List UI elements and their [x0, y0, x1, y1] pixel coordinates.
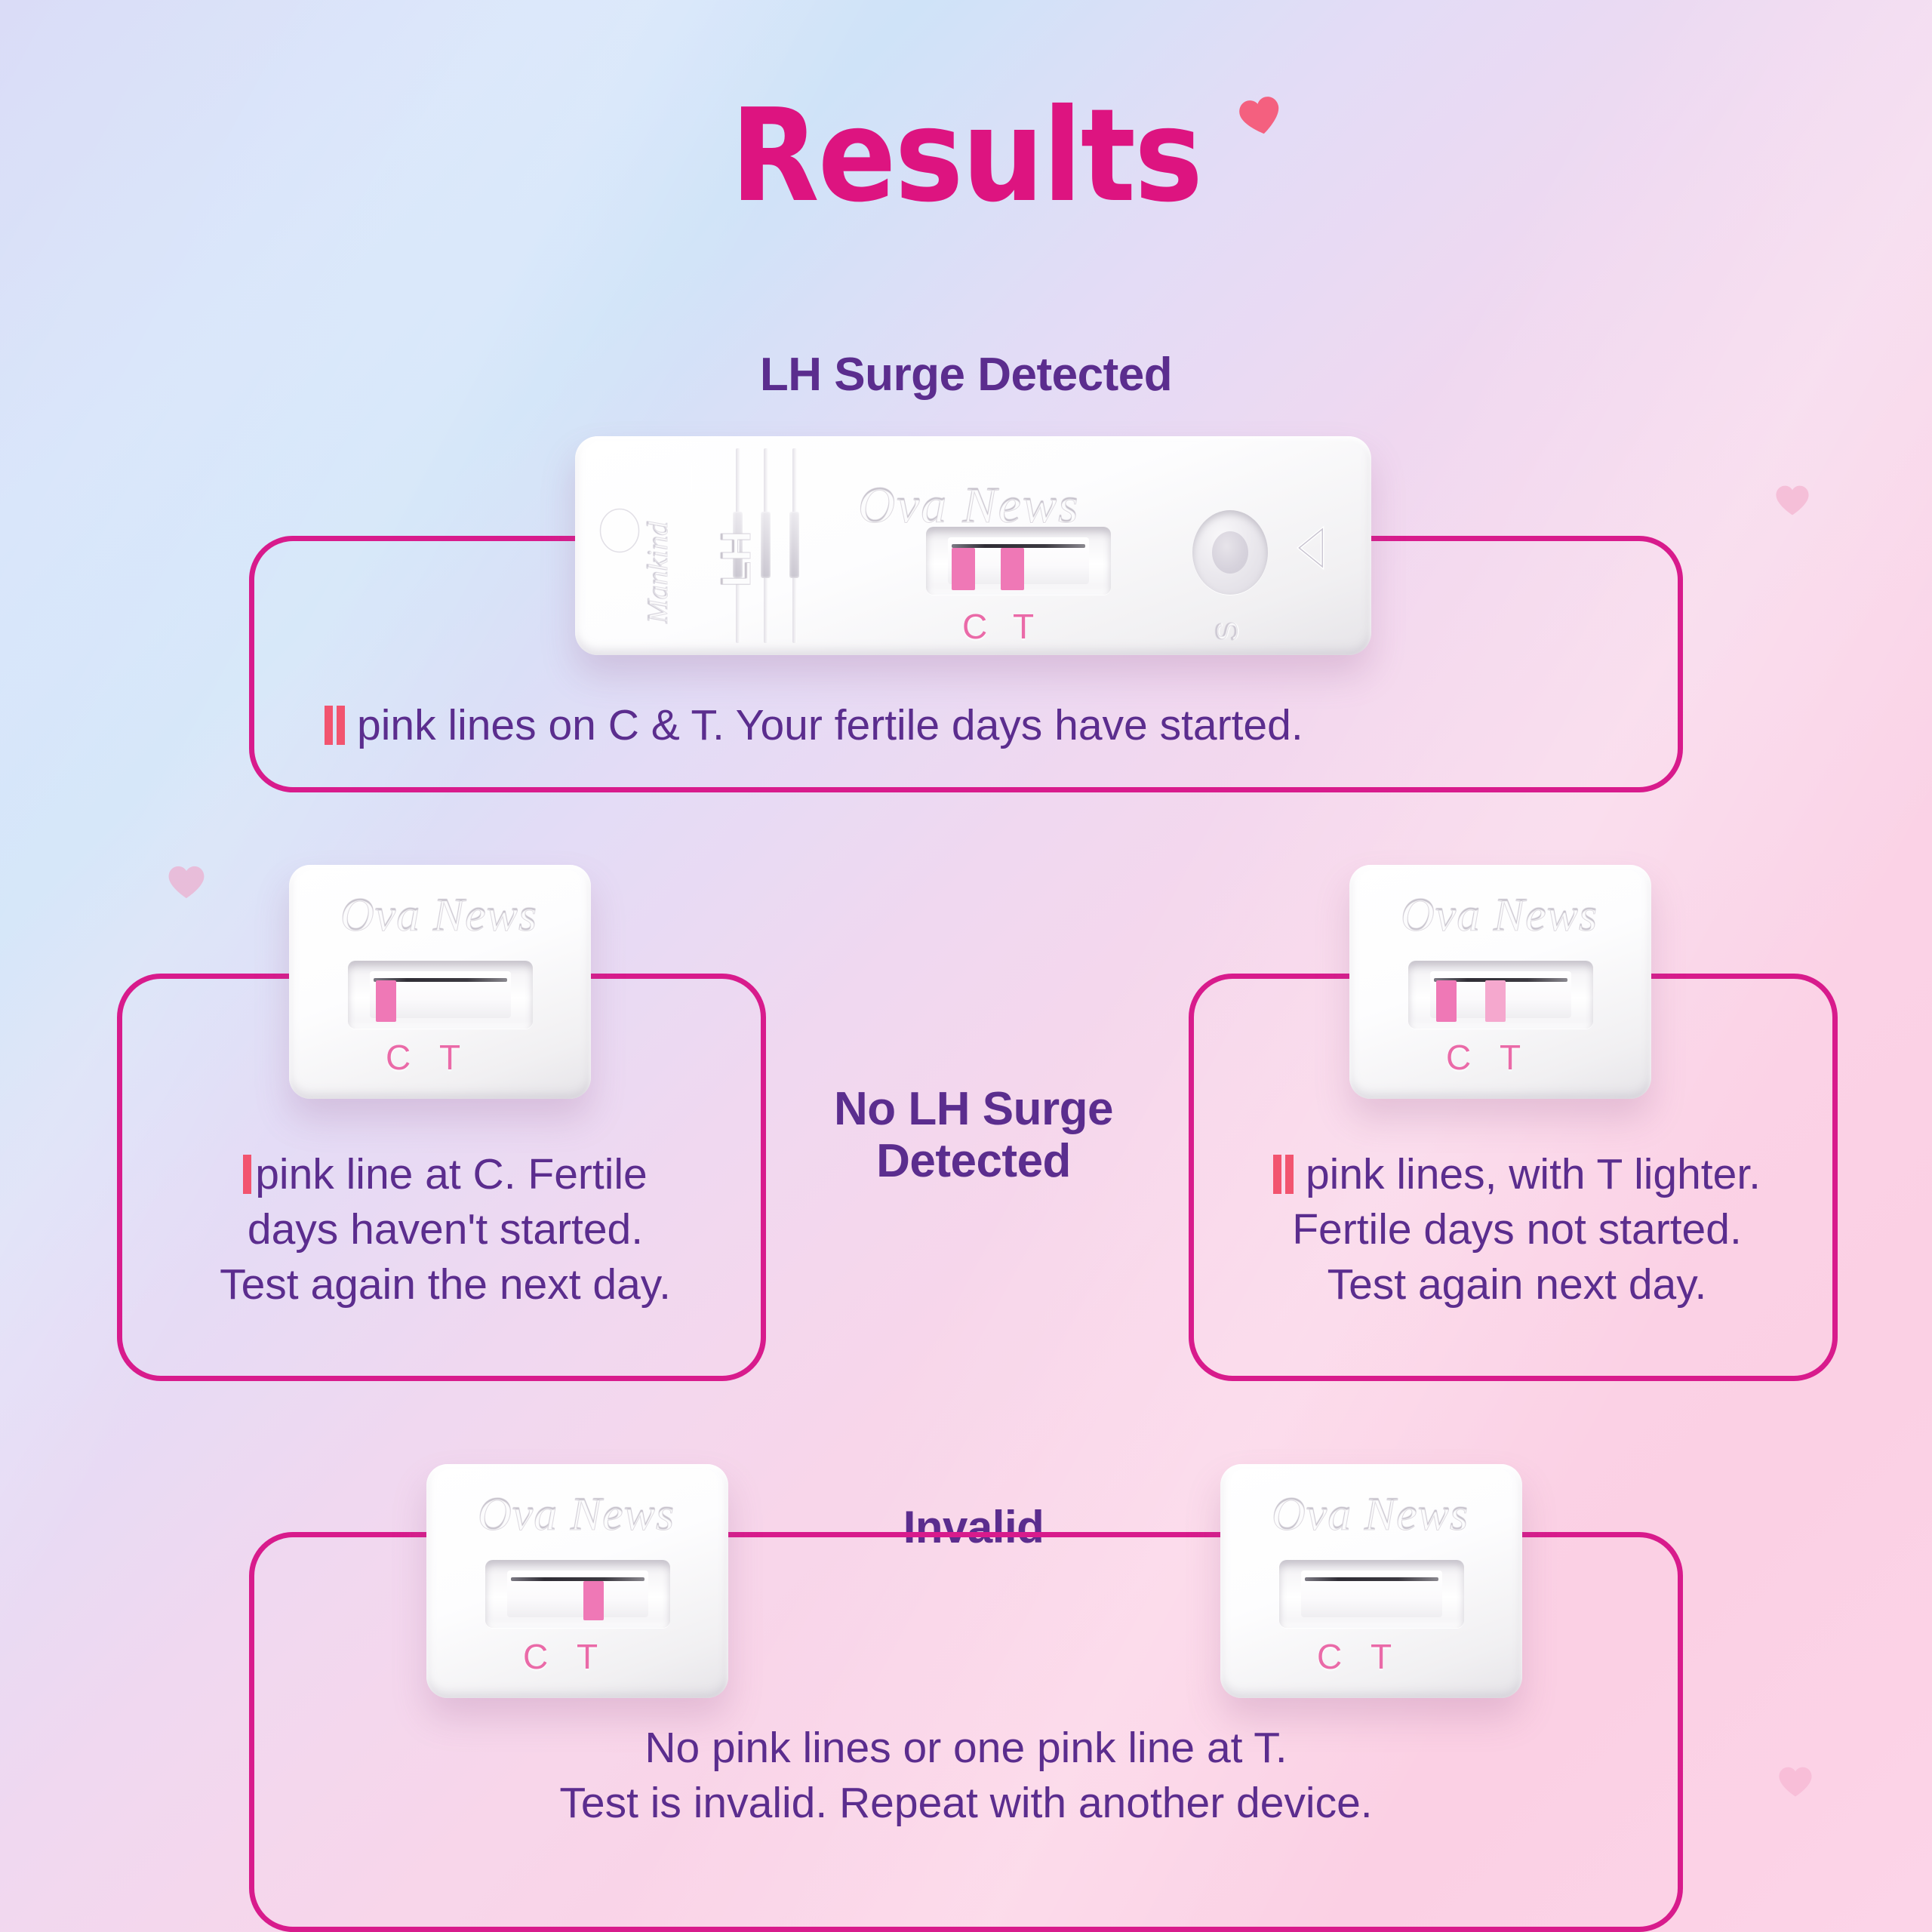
- device-brand-label: Ova News: [1401, 889, 1598, 943]
- heart-right-upper-icon: [1775, 485, 1810, 516]
- test-line: [1485, 980, 1506, 1022]
- device-brand-label: Ova News: [1272, 1488, 1469, 1542]
- heading-no-lh-surge-line1: No LH Surge: [770, 1083, 1177, 1135]
- device-manufacturer-label: Mankind: [641, 521, 675, 623]
- result-window: [348, 961, 533, 1029]
- tick-mark: [337, 706, 345, 745]
- result-window: [1279, 1560, 1464, 1628]
- caption-invalid-line2: Test is invalid. Repeat with another dev…: [302, 1776, 1630, 1831]
- control-letter: C: [386, 1037, 418, 1078]
- direction-arrow-icon: [1296, 525, 1329, 571]
- result-window: [926, 527, 1111, 595]
- control-line: [1436, 980, 1457, 1022]
- caption-no-surge-left-line1: pink line at C. Fertile: [255, 1150, 648, 1198]
- caption-no-surge-right-line2: Fertile days not started.: [1223, 1202, 1811, 1257]
- test-letter: T: [1500, 1037, 1528, 1078]
- device-lh-label: LH: [711, 531, 760, 587]
- device-brand-label: Ova News: [478, 1488, 675, 1542]
- test-letter: T: [1013, 606, 1041, 647]
- control-letter: C: [1317, 1636, 1349, 1677]
- caption-no-surge-right: pink lines, with T lighter. Fertile days…: [1223, 1147, 1811, 1312]
- caption-no-surge-left: pink line at C. Fertile days haven't sta…: [158, 1147, 732, 1312]
- sample-well: [1192, 510, 1268, 595]
- device-lh-surge: LH Mankind Ova News C T S: [575, 436, 1371, 655]
- heart-left-icon: [168, 865, 205, 900]
- caption-lh-surge: pink lines on C & T. Your fertile days h…: [325, 698, 1623, 753]
- test-line: [583, 1581, 604, 1620]
- device-invalid-right: Ova News C T: [1220, 1464, 1522, 1698]
- result-window: [1408, 961, 1593, 1029]
- page-title: Results: [0, 92, 1932, 220]
- tick-mark: [325, 706, 333, 745]
- control-line: [376, 980, 396, 1022]
- control-letter: C: [962, 606, 995, 647]
- tick-mark: [1285, 1155, 1294, 1194]
- device-brand-label: Ova News: [340, 889, 537, 943]
- device-grip: [761, 512, 771, 578]
- caption-no-surge-left-line2: days haven't started.: [158, 1202, 732, 1257]
- device-no-surge-right: Ova News C T: [1349, 865, 1651, 1099]
- test-letter: T: [577, 1636, 605, 1677]
- control-line: [952, 548, 975, 590]
- caption-invalid: No pink lines or one pink line at T. Tes…: [302, 1721, 1630, 1831]
- test-letter: T: [439, 1037, 468, 1078]
- device-invalid-left: Ova News C T: [426, 1464, 728, 1698]
- test-line: [1001, 548, 1024, 590]
- tick-mark: [243, 1155, 251, 1194]
- caption-lh-surge-text: pink lines on C & T. Your fertile days h…: [357, 701, 1303, 749]
- heart-right-lower-icon: [1778, 1766, 1813, 1798]
- test-letter: T: [1371, 1636, 1399, 1677]
- heading-lh-surge: LH Surge Detected: [0, 349, 1932, 401]
- heading-no-lh-surge: No LH Surge Detected: [770, 1083, 1177, 1188]
- control-letter: C: [1446, 1037, 1478, 1078]
- heading-no-lh-surge-line2: Detected: [770, 1135, 1177, 1187]
- caption-no-surge-right-line3: Test again next day.: [1223, 1257, 1811, 1312]
- test-strip: [1305, 1577, 1438, 1581]
- caption-invalid-line1: No pink lines or one pink line at T.: [302, 1721, 1630, 1776]
- device-s-label: S: [1211, 621, 1244, 641]
- caption-no-surge-left-line3: Test again the next day.: [158, 1257, 732, 1312]
- test-strip: [511, 1577, 644, 1581]
- sample-well-inner: [1212, 531, 1248, 574]
- result-window: [485, 1560, 670, 1628]
- flow-arrow-icon: [672, 457, 708, 497]
- tick-mark: [1273, 1155, 1281, 1194]
- device-no-surge-left: Ova News C T: [289, 865, 591, 1099]
- caption-no-surge-right-line1: pink lines, with T lighter.: [1306, 1150, 1761, 1198]
- device-grip: [789, 512, 799, 578]
- manufacturer-logo-icon: [596, 506, 643, 555]
- control-letter: C: [523, 1636, 555, 1677]
